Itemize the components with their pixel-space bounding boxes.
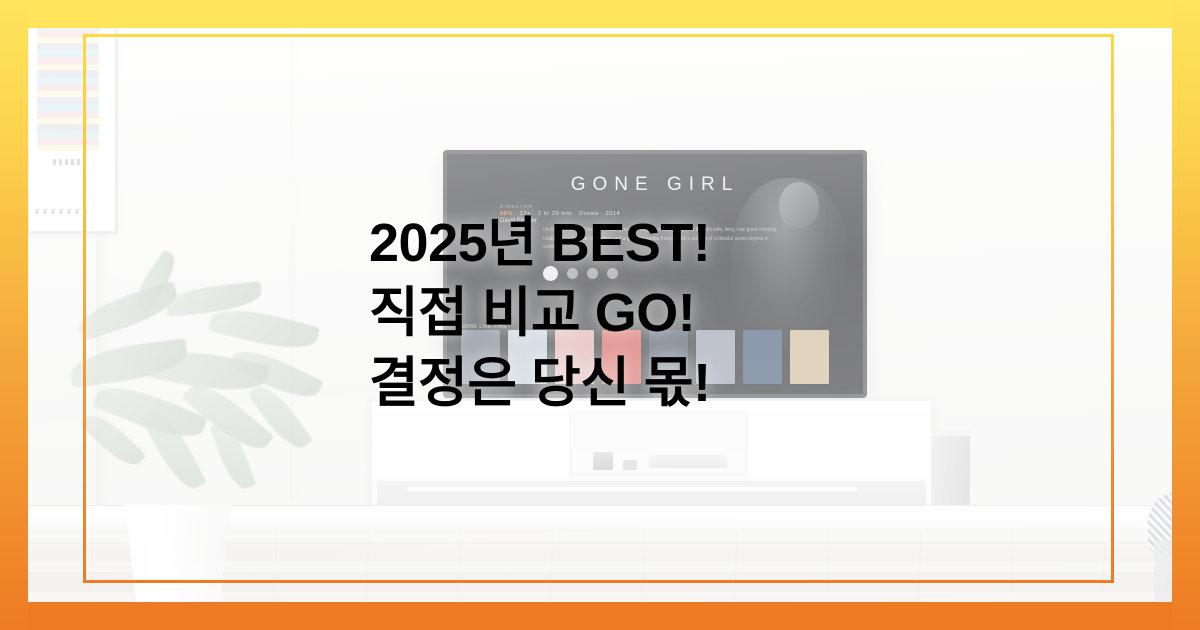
media-device-receiver: [593, 452, 613, 470]
drawer-handle: [407, 487, 857, 491]
headline-line-2: 직접 비교 GO!: [369, 278, 1009, 348]
wall-art-frame: [26, 16, 118, 234]
media-device-box: [623, 460, 637, 470]
wall-art-stripes: [37, 23, 99, 151]
plant-foliage: [70, 268, 320, 530]
headline-line-3: 결정은 당신 몫!: [369, 348, 1009, 418]
leaf: [74, 281, 182, 342]
media-device-player: [649, 455, 727, 468]
headline-line-1: 2025년 BEST!: [369, 208, 1009, 278]
wicker-basket-base: [1154, 540, 1200, 612]
wall-art-caption: [35, 209, 87, 214]
promo-banner-canvas: GONE GIRL DIRECTOR David Fincher 88% 17+…: [0, 0, 1200, 630]
plant-pot: [118, 505, 238, 613]
tv-movie-title: GONE GIRL: [571, 174, 740, 196]
wall-art-signature: [53, 159, 87, 165]
headline: 2025년 BEST! 직접 비교 GO! 결정은 당신 몫!: [369, 208, 1009, 418]
